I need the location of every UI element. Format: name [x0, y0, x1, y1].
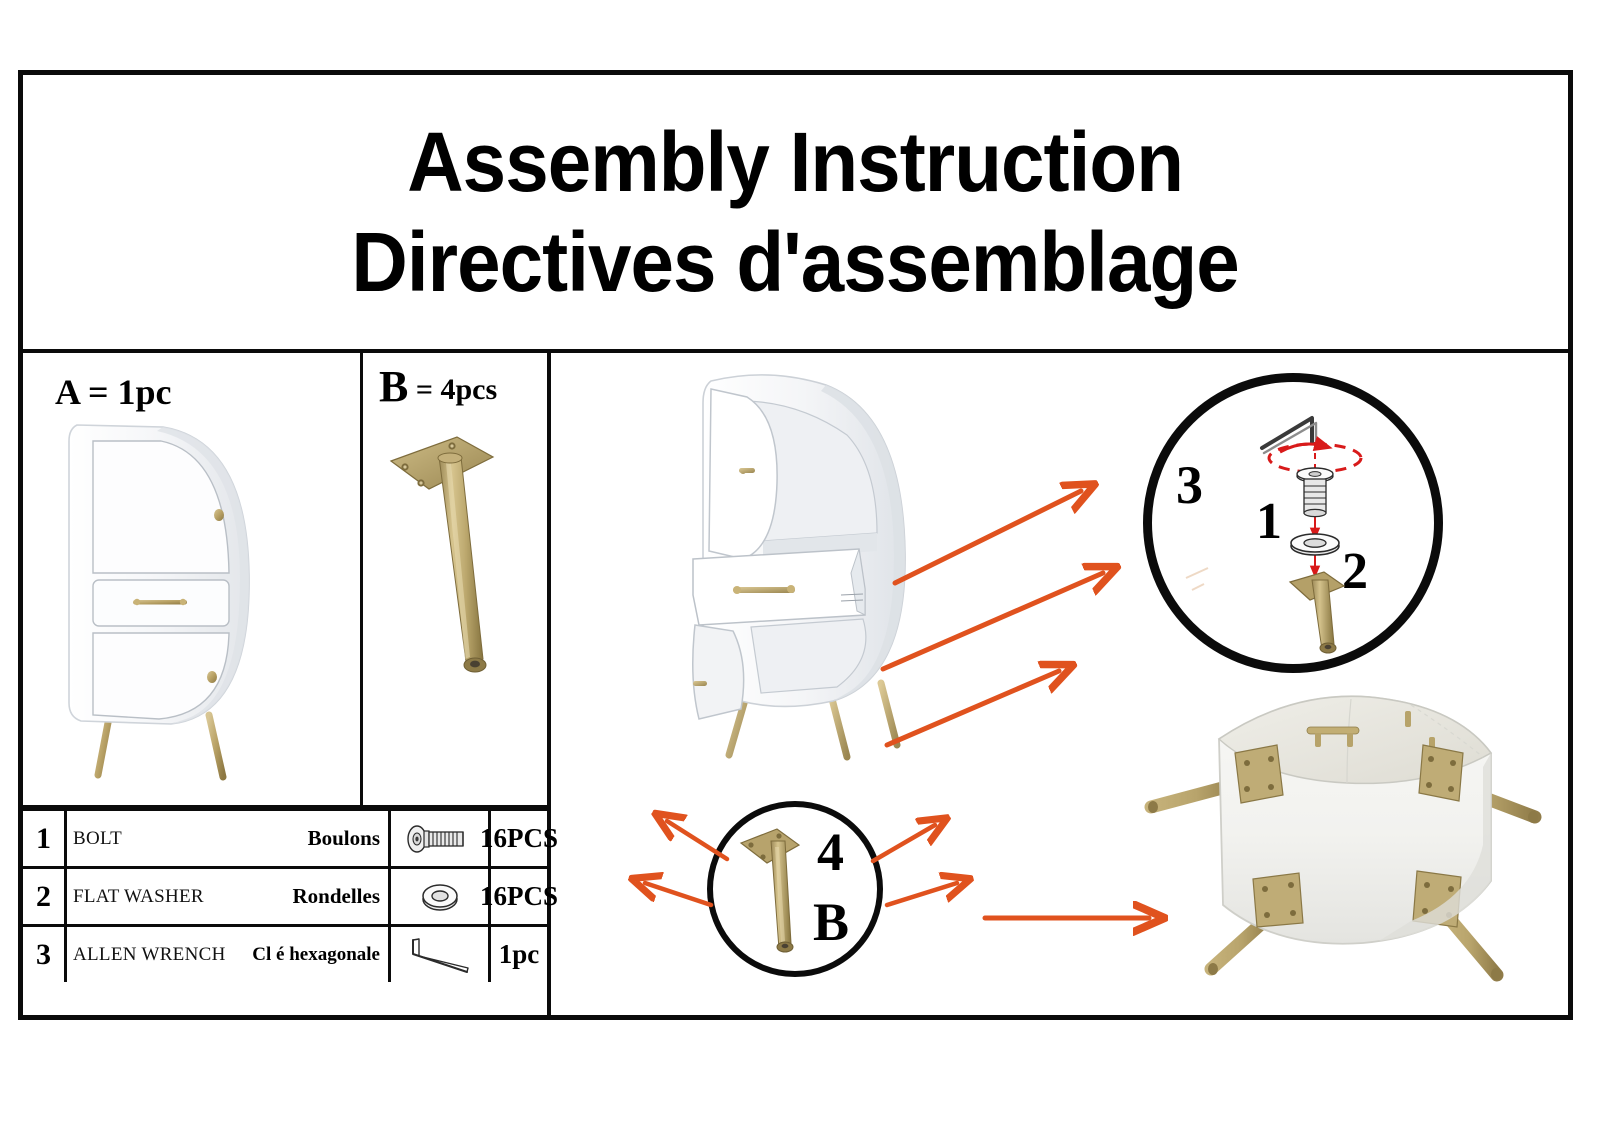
row-name: FLAT WASHER Rondelles	[67, 869, 391, 924]
part-a-panel: A = 1pc	[23, 353, 363, 805]
bolt-glyph	[1297, 468, 1333, 517]
row-number: 2	[23, 869, 67, 924]
arrow-lower-right	[887, 883, 957, 905]
washer-icon	[413, 878, 467, 916]
row-name-en: FLAT WASHER	[73, 886, 204, 908]
bolt-icon	[398, 821, 482, 857]
table-row: 2 FLAT WASHER Rondelles 16P	[23, 866, 547, 924]
parts-panel: A = 1pc	[23, 353, 547, 808]
leg-bracket-glyph	[1290, 572, 1344, 653]
table-row: 3 ALLEN WRENCH Cl é hexagonale	[23, 924, 547, 982]
row-name: BOLT Boulons	[67, 811, 391, 866]
table-row: 1 BOLT Boulons	[23, 808, 547, 866]
row-name-fr: Rondelles	[292, 884, 382, 909]
arrow-upper-right	[873, 825, 935, 861]
body-row: A = 1pc	[23, 353, 1568, 1015]
page-title-english: Assembly Instruction	[408, 120, 1184, 204]
arrow-to-leg-2	[883, 573, 1103, 669]
row-name-en: ALLEN WRENCH	[73, 944, 226, 966]
gold-furniture-leg-illustration	[375, 413, 535, 703]
outer-frame: Assembly Instruction Directives d'assemb…	[18, 70, 1573, 1020]
part-b-letter: B	[379, 362, 408, 411]
row-icon-cell	[391, 869, 491, 924]
row-qty: 1pc	[491, 927, 547, 982]
inverted-cabinet-with-legs-illustration	[1111, 683, 1561, 983]
parts-column: A = 1pc	[23, 353, 551, 1015]
allen-wrench-icon	[401, 934, 479, 976]
arrow-to-leg-1	[895, 491, 1081, 583]
row-qty: 16PCS	[491, 811, 547, 866]
row-name-fr: Boulons	[308, 826, 382, 851]
diagram-column: 3 1 2	[551, 353, 1568, 1015]
row-name-en: BOLT	[73, 828, 122, 850]
part-b-qty: = 4pcs	[416, 373, 497, 406]
row-number: 3	[23, 927, 67, 982]
washer-glyph	[1291, 534, 1339, 555]
part-a-label: A = 1pc	[55, 371, 172, 413]
row-qty: 16PCS	[491, 869, 547, 924]
part-b-label: B = 4pcs	[379, 361, 497, 412]
fastener-detail-circle: 3 1 2	[1143, 373, 1443, 673]
row-number: 1	[23, 811, 67, 866]
row-name: ALLEN WRENCH Cl é hexagonale	[67, 927, 391, 982]
arrow-upper-left	[667, 821, 727, 859]
title-band: Assembly Instruction Directives d'assemb…	[23, 75, 1568, 353]
row-name-fr: Cl é hexagonale	[252, 944, 382, 966]
page-title-french: Directives d'assemblage	[352, 220, 1239, 304]
row-icon-cell	[391, 811, 491, 866]
fastener-exploded-illustration	[1152, 382, 1434, 664]
half-moon-nightstand-illustration	[51, 415, 341, 785]
assembly-instruction-sheet: Assembly Instruction Directives d'assemb…	[0, 0, 1600, 1133]
arrow-to-leg-3	[887, 671, 1059, 745]
leg-distribution-arrows	[591, 773, 1031, 1003]
bill-of-materials-table: 1 BOLT Boulons	[23, 808, 547, 1015]
part-b-panel: B = 4pcs	[363, 353, 547, 805]
row-icon-cell	[391, 927, 491, 982]
arrow-lower-left	[645, 883, 711, 905]
